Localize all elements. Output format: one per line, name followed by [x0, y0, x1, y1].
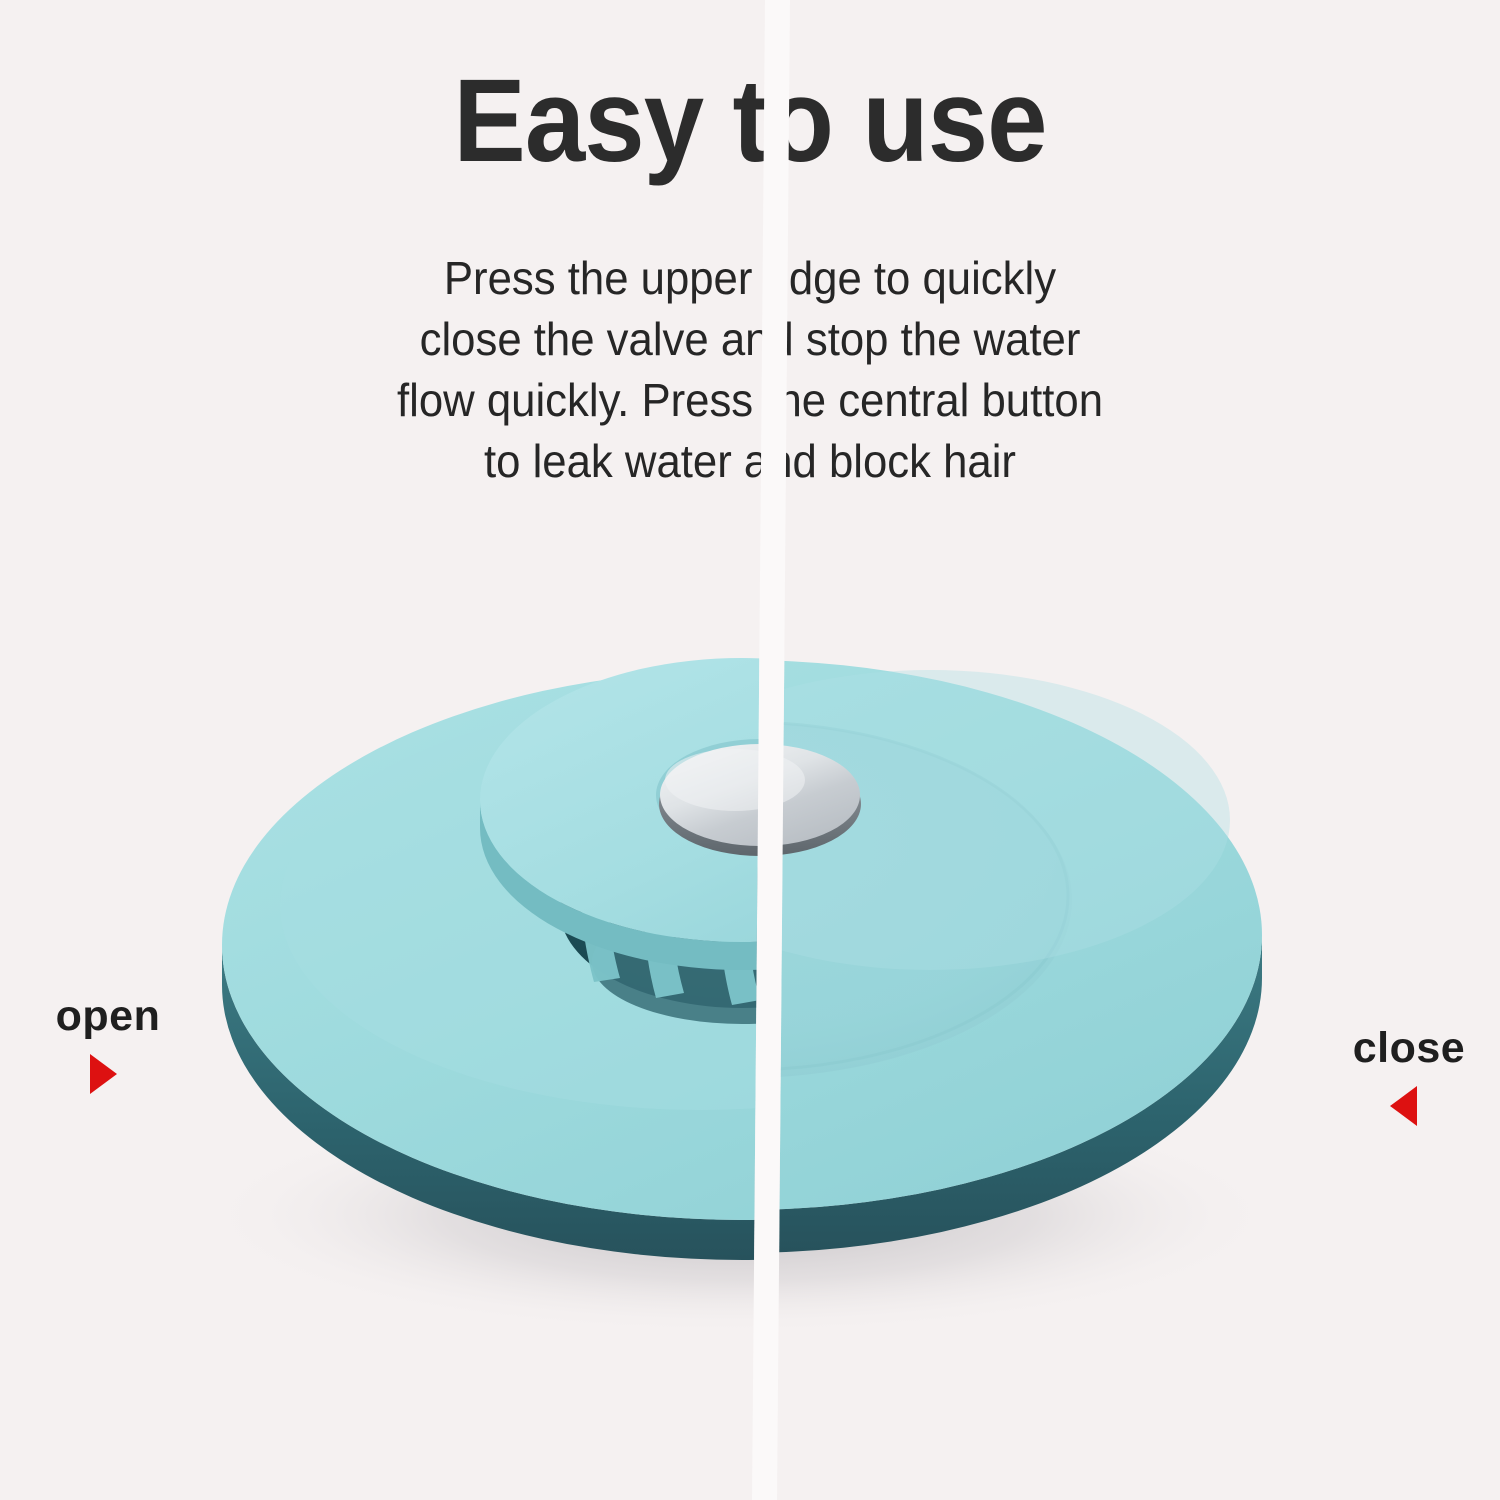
open-base-highlight: [280, 700, 1120, 1110]
center-button-face: [660, 744, 860, 846]
product-shadow: [200, 1095, 1280, 1335]
description-line-2: close the valve and stop the water: [313, 309, 1187, 370]
open-raised-disc: [480, 658, 1004, 942]
close-base-rim: [222, 935, 1262, 1253]
product-open-state: [222, 658, 1262, 1260]
open-cavity-floor: [592, 900, 892, 1024]
center-button[interactable]: [659, 744, 861, 856]
description-line-4: to leak water and block hair: [313, 431, 1187, 492]
description-text: Press the upper edge to quickly close th…: [313, 248, 1187, 492]
label-close-text: close: [1353, 1024, 1465, 1072]
label-open-text: open: [56, 992, 161, 1040]
description-line-3: flow quickly. Press the central button: [313, 370, 1187, 431]
split-divider: [752, 0, 790, 1500]
product-illustration: [0, 0, 1500, 1500]
center-button-rim: [659, 752, 861, 856]
label-open: open: [18, 994, 198, 1094]
triangle-right-icon: [90, 1054, 117, 1094]
infographic-canvas: Easy to use Press the upper edge to quic…: [0, 0, 1500, 1500]
close-base-disc: [222, 660, 1262, 1210]
open-cavity: [560, 812, 924, 1008]
page-title: Easy to use: [60, 62, 1440, 180]
close-inner-ring: [416, 722, 1068, 1070]
open-button-recess: [656, 739, 864, 851]
close-highlight: [630, 670, 1230, 970]
close-inner-depression: [412, 722, 1072, 1078]
product-close-state: [222, 660, 1262, 1253]
description-line-1: Press the upper edge to quickly: [313, 248, 1187, 309]
center-button-gloss: [665, 749, 805, 811]
open-base-rim: [222, 945, 1262, 1260]
open-raised-disc-rim: [480, 800, 1004, 970]
open-rib-struts: [581, 845, 760, 1005]
triangle-left-icon: [1390, 1086, 1417, 1126]
open-base-disc: [222, 670, 1262, 1220]
label-close: close: [1316, 1026, 1500, 1126]
